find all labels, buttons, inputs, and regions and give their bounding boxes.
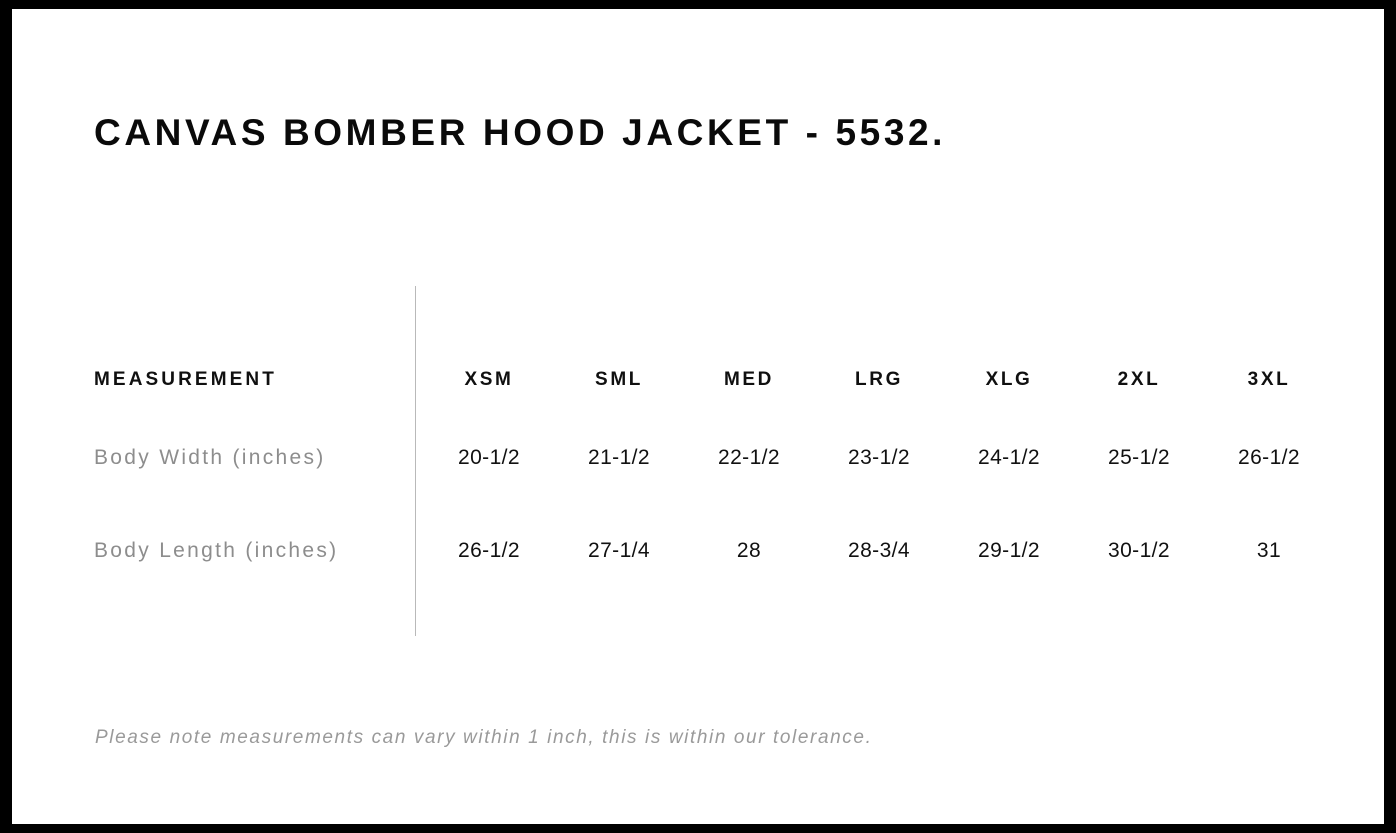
column-header-2xl: 2XL (1074, 349, 1204, 411)
cell-body-width-sml: 21-1/2 (554, 411, 684, 504)
cell-body-length-med: 28 (684, 504, 814, 597)
cell-body-length-3xl: 31 (1204, 504, 1334, 597)
cell-body-width-xlg: 24-1/2 (944, 411, 1074, 504)
table-row: Body Length (inches) 26-1/2 27-1/4 28 28… (94, 504, 1334, 597)
size-chart-frame: CANVAS BOMBER HOOD JACKET - 5532. MEASUR… (0, 0, 1396, 833)
table-row: Body Width (inches) 20-1/2 21-1/2 22-1/2… (94, 411, 1334, 504)
cell-body-width-med: 22-1/2 (684, 411, 814, 504)
column-header-xlg: XLG (944, 349, 1074, 411)
cell-body-length-2xl: 30-1/2 (1074, 504, 1204, 597)
cell-body-width-xsm: 20-1/2 (424, 411, 554, 504)
row-label-body-length: Body Length (inches) (94, 504, 424, 597)
cell-body-length-xsm: 26-1/2 (424, 504, 554, 597)
cell-body-width-lrg: 23-1/2 (814, 411, 944, 504)
column-header-lrg: LRG (814, 349, 944, 411)
column-header-med: MED (684, 349, 814, 411)
size-chart-table: MEASUREMENT XSM SML MED LRG XLG 2XL 3XL … (94, 349, 1334, 597)
cell-body-length-xlg: 29-1/2 (944, 504, 1074, 597)
column-header-sml: SML (554, 349, 684, 411)
cell-body-length-sml: 27-1/4 (554, 504, 684, 597)
row-label-body-width: Body Width (inches) (94, 411, 424, 504)
column-header-measurement: MEASUREMENT (94, 349, 424, 411)
size-chart-card: CANVAS BOMBER HOOD JACKET - 5532. MEASUR… (12, 9, 1384, 824)
cell-body-width-3xl: 26-1/2 (1204, 411, 1334, 504)
column-header-xsm: XSM (424, 349, 554, 411)
table-header-row: MEASUREMENT XSM SML MED LRG XLG 2XL 3XL (94, 349, 1334, 411)
page-title: CANVAS BOMBER HOOD JACKET - 5532. (94, 112, 946, 155)
cell-body-length-lrg: 28-3/4 (814, 504, 944, 597)
tolerance-note: Please note measurements can vary within… (95, 727, 872, 749)
cell-body-width-2xl: 25-1/2 (1074, 411, 1204, 504)
column-header-3xl: 3XL (1204, 349, 1334, 411)
